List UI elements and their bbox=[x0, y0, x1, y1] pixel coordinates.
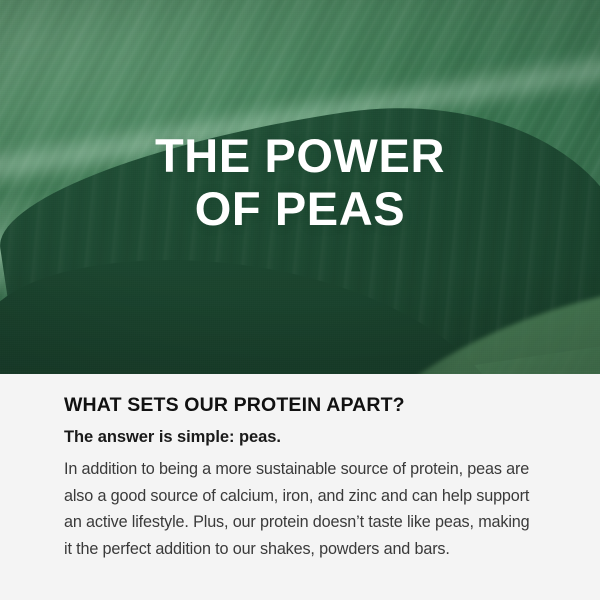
section-subheading: The answer is simple: peas. bbox=[64, 427, 540, 448]
hero-title-line-1: THE POWER bbox=[0, 129, 600, 182]
section-heading: WHAT SETS OUR PROTEIN APART? bbox=[64, 393, 540, 417]
hero-title: THE POWER OF PEAS bbox=[0, 129, 600, 235]
promo-card: THE POWER OF PEAS WHAT SETS OUR PROTEIN … bbox=[0, 0, 600, 600]
section-body-text: In addition to being a more sustainable … bbox=[64, 456, 540, 562]
content-section: WHAT SETS OUR PROTEIN APART? The answer … bbox=[0, 374, 600, 600]
hero-section: THE POWER OF PEAS bbox=[0, 0, 600, 374]
hero-title-line-2: OF PEAS bbox=[0, 182, 600, 235]
